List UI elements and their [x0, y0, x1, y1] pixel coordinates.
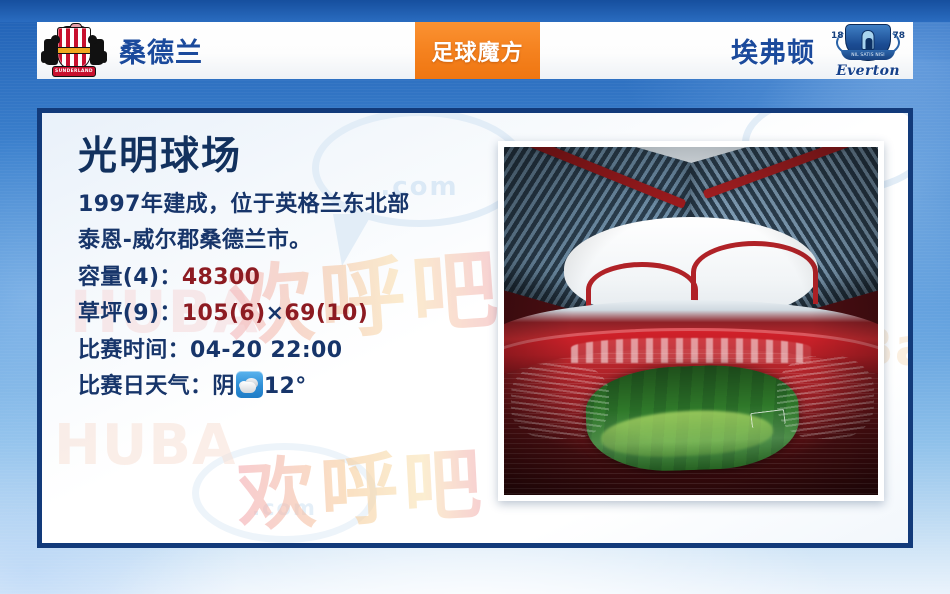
- capacity-value: 48300: [182, 265, 261, 290]
- away-team-name: 埃弗顿: [731, 31, 815, 70]
- weather-condition: 阴: [212, 374, 234, 399]
- home-team-name: 桑德兰: [119, 31, 203, 70]
- watermark-side-text-2: HUBA: [54, 413, 236, 478]
- watermark-dotcom-label-3: .com: [199, 496, 370, 520]
- crest-motto-text: NIL SATIS NISI OPTIMUM: [841, 50, 895, 60]
- weather-row: 比赛日天气：阴12°: [78, 369, 498, 406]
- cloud-base: [240, 382, 256, 393]
- home-team-block[interactable]: SUNDERLAND A.F.C. 桑德兰: [37, 22, 203, 79]
- crest-year-right: 78: [892, 31, 905, 41]
- crest-lion-left-icon: [44, 39, 58, 65]
- capacity-row: 容量(4)：48300: [78, 260, 498, 297]
- stadium-info-card: .com .com .com HUBA HUBA uanBa 欢呼吧 欢呼吧 光…: [37, 108, 913, 548]
- crest-year-left: 18: [831, 31, 844, 41]
- crest-band-shape: [55, 47, 93, 54]
- photo-vignette: [504, 147, 878, 495]
- stadium-photo-frame[interactable]: [498, 141, 884, 501]
- crest-wordmark: Everton: [829, 63, 907, 79]
- pitch-separator: ×: [266, 301, 285, 326]
- away-team-block[interactable]: 埃弗顿 18 78 NIL SATIS NISI OPTIMUM Everton: [731, 22, 913, 79]
- stadium-description-line-2: 泰恩-威尔郡桑德兰市。: [78, 223, 498, 260]
- crest-scroll-text: SUNDERLAND A.F.C.: [52, 66, 96, 77]
- kickoff-label: 比赛时间：: [78, 338, 190, 363]
- crest-tower-shape: [862, 30, 875, 50]
- site-brand-logo[interactable]: 足球魔方: [415, 22, 540, 79]
- stadium-interior-photo: [504, 147, 878, 495]
- card-inner: .com .com .com HUBA HUBA uanBa 欢呼吧 欢呼吧 光…: [42, 113, 908, 543]
- everton-crest-icon: 18 78 NIL SATIS NISI OPTIMUM Everton: [829, 23, 907, 79]
- weather-label: 比赛日天气：: [78, 374, 212, 399]
- sunderland-crest-icon: SUNDERLAND A.F.C.: [43, 23, 105, 78]
- pitch-length-value: 105(6): [182, 301, 266, 326]
- pitch-size-row: 草坪(9)：105(6)×69(10): [78, 296, 498, 333]
- background-top-strip: [0, 0, 950, 22]
- site-brand-label: 足球魔方: [431, 35, 523, 67]
- cloudy-weather-icon: [236, 371, 263, 398]
- stadium-title: 光明球场: [78, 135, 498, 179]
- stadium-description-line-1: 1997年建成，位于英格兰东北部: [78, 187, 498, 224]
- stadium-info-panel: 光明球场 1997年建成，位于英格兰东北部 泰恩-威尔郡桑德兰市。 容量(4)：…: [78, 135, 498, 406]
- kickoff-value: 04-20 22:00: [190, 338, 342, 363]
- kickoff-row: 比赛时间：04-20 22:00: [78, 333, 498, 370]
- pitch-label: 草坪(9)：: [78, 301, 182, 326]
- crest-lion-right-icon: [90, 39, 104, 65]
- pitch-width-value: 69(10): [284, 301, 368, 326]
- weather-temperature: 12°: [264, 374, 307, 399]
- watermark-speech-bubble-3: .com: [192, 443, 377, 543]
- watermark-huanhuba-mid: 欢呼吧: [234, 422, 489, 547]
- capacity-label: 容量(4)：: [78, 265, 182, 290]
- weather-icon-wrap: [235, 371, 264, 398]
